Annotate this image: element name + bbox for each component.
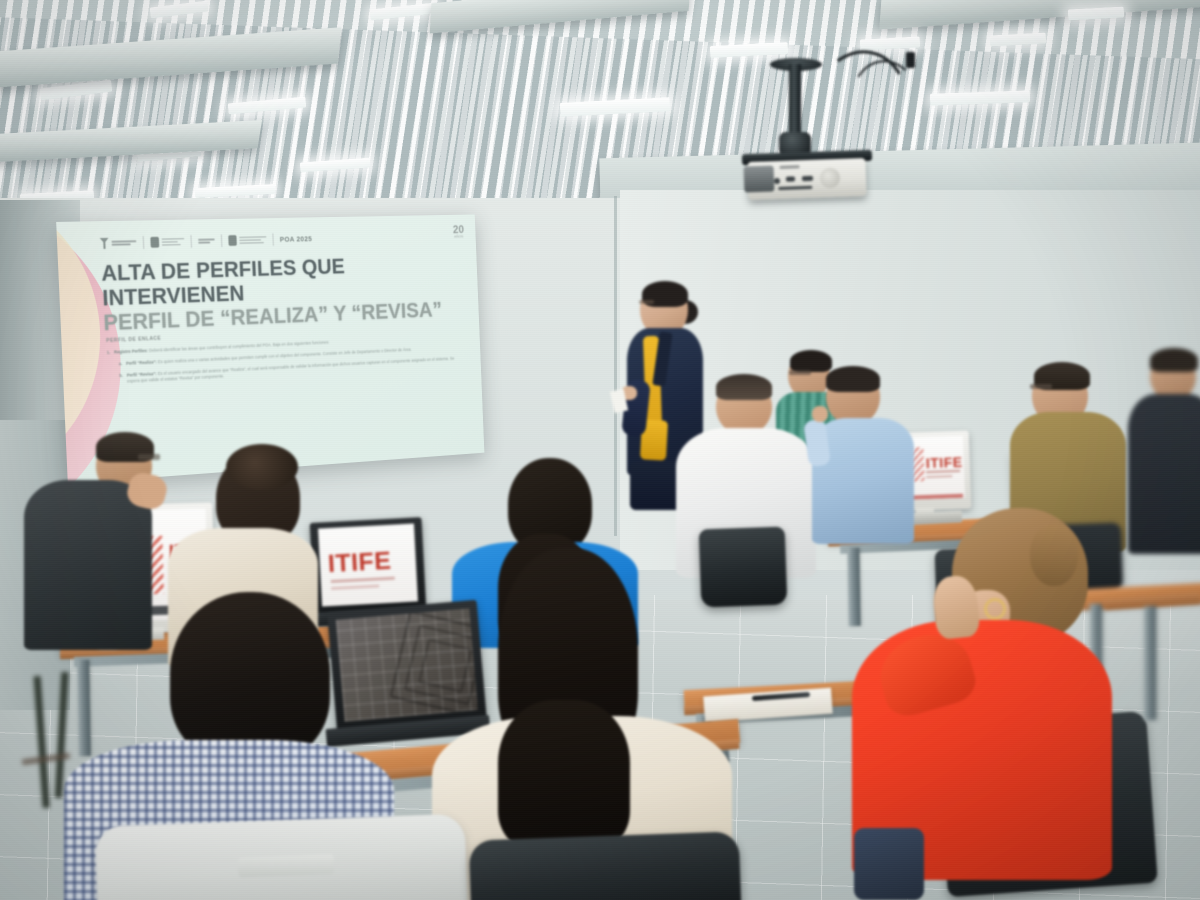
itife-seal-logo <box>228 234 266 245</box>
chair-black <box>699 527 788 608</box>
hair <box>790 350 832 372</box>
hand <box>812 406 828 422</box>
slide-bullet-marker: 1. <box>107 350 111 356</box>
chair-white-foreground <box>95 814 468 900</box>
slide-bullet-lead: Registro Perfiles: <box>114 348 148 354</box>
slide-bullet-lead: Perfil “Realiza”: <box>126 359 157 365</box>
dark-shirt <box>24 480 152 650</box>
logo-divider <box>143 236 145 249</box>
hair <box>716 374 772 400</box>
slide-body: PERFIL DE ENLACE 1. Registro Perfiles: D… <box>106 323 463 392</box>
slide-title: ALTA DE PERFILES QUE INTERVIENEN PERFIL … <box>101 251 460 335</box>
anniversary-sub: AÑOS <box>453 234 464 239</box>
glasses-icon <box>789 370 811 375</box>
glasses-icon <box>1030 384 1052 389</box>
training-room-photo: POA 2025 20 AÑOS ALTA DE PERFILES QUE IN… <box>0 0 1200 900</box>
anniversary-number: 20 <box>453 225 464 234</box>
dark-jacket <box>1128 394 1200 554</box>
hair <box>1150 348 1198 372</box>
slide-logo-bar: POA 2025 <box>100 233 313 250</box>
projector-label <box>778 186 812 190</box>
chair-black-foreground <box>469 831 741 900</box>
slide-bullet-marker: b. <box>119 373 123 385</box>
secretariat-logo <box>198 239 215 244</box>
slide-bullet-text: Deberá identificar las áreas que contrib… <box>149 340 329 353</box>
wall-corner <box>614 196 617 536</box>
projector-port <box>774 178 780 184</box>
projector-brand <box>780 165 800 169</box>
ceiling <box>0 0 1200 215</box>
logo-divider <box>272 233 273 245</box>
projector-cable-plug <box>906 52 915 68</box>
chair-panel <box>238 854 335 877</box>
logo-divider <box>190 235 191 248</box>
screen-itife-wordmark: ITIFE <box>327 547 392 579</box>
projector-port <box>802 176 813 181</box>
hair-bun <box>1030 524 1078 586</box>
laptop-screen <box>336 608 478 721</box>
slide-bullet-marker: a. <box>119 361 123 367</box>
projector-port <box>786 176 795 181</box>
projector-lens <box>744 165 775 192</box>
hair-volume <box>226 444 298 490</box>
hair-over-back <box>498 700 630 850</box>
tlaxcala-state-logo <box>100 237 137 249</box>
slide-program-label: POA 2025 <box>280 234 313 243</box>
laptop-screen: ITIFE <box>318 524 418 607</box>
head-hair <box>170 592 330 762</box>
screen-itife-wordmark: ITIFE <box>926 454 963 471</box>
glasses-icon <box>138 454 160 460</box>
hair <box>826 366 880 392</box>
jeans <box>854 828 924 900</box>
logo-divider <box>221 234 222 247</box>
hoop-earring <box>984 598 1006 620</box>
government-seal-logo <box>150 236 184 248</box>
anniversary-badge: 20 AÑOS <box>453 225 465 239</box>
desk-leg <box>847 548 860 626</box>
desk-leg <box>77 660 91 756</box>
desk-leg <box>1144 600 1156 720</box>
presenter-glasses <box>639 300 654 304</box>
